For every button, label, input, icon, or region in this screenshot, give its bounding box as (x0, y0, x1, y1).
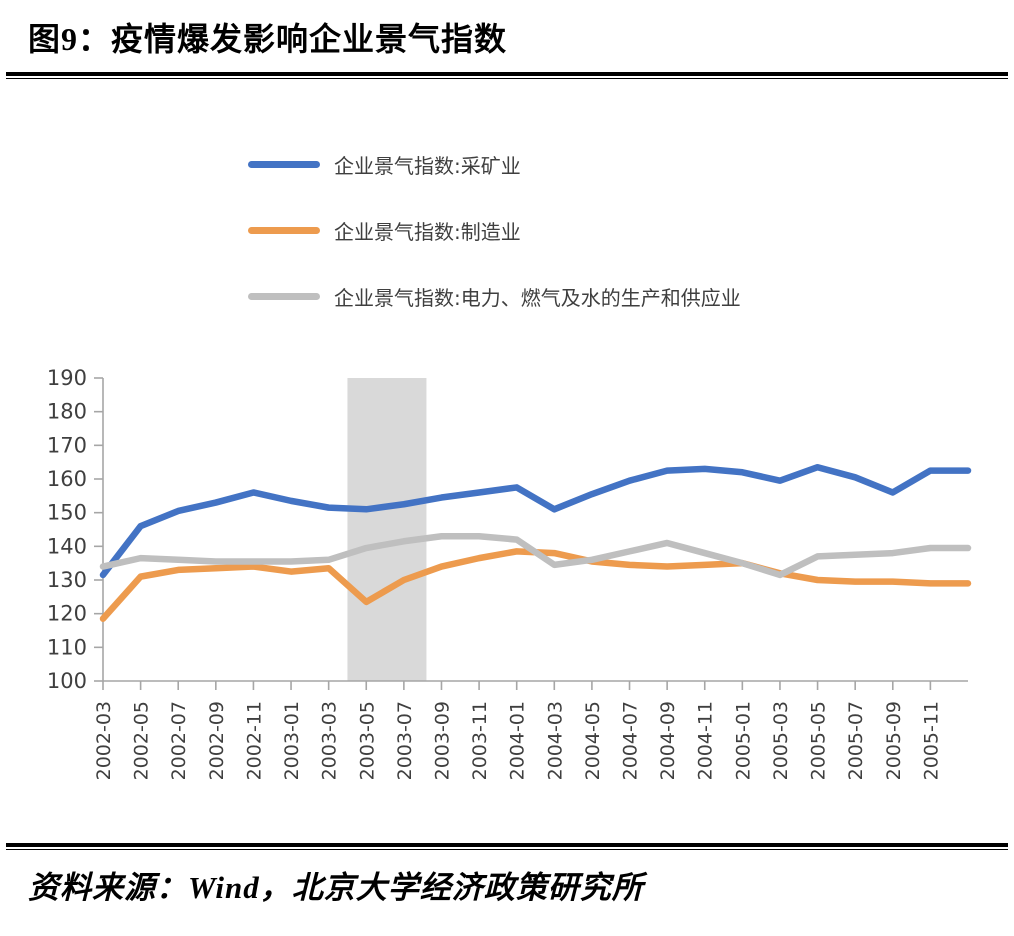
source-divider (6, 843, 1008, 850)
x-tick-label: 2005-03 (770, 701, 792, 780)
x-tick-label: 2005-05 (808, 701, 830, 780)
y-tick-label: 130 (47, 568, 87, 592)
x-tick-label: 2002-07 (168, 701, 190, 780)
legend-label-mining: 企业景气指数:采矿业 (334, 150, 521, 179)
x-tick-label: 2005-09 (883, 701, 905, 780)
x-tick-label: 2004-07 (620, 701, 642, 780)
x-tick-label: 2002-11 (243, 701, 265, 780)
legend-swatch-mining (248, 161, 320, 168)
legend-item-mining[interactable]: 企业景气指数:采矿业 (248, 150, 741, 179)
x-tick-label: 2004-11 (695, 701, 717, 780)
legend-item-manufacturing[interactable]: 企业景气指数:制造业 (248, 216, 741, 245)
y-tick-label: 160 (47, 467, 87, 491)
figure-container: 图9：疫情爆发影响企业景气指数 企业景气指数:采矿业企业景气指数:制造业企业景气… (0, 0, 1014, 936)
x-tick-label: 2004-09 (657, 701, 679, 780)
x-tick-label: 2004-03 (544, 701, 566, 780)
legend-item-utilities[interactable]: 企业景气指数:电力、燃气及水的生产和供应业 (248, 282, 741, 311)
x-tick-label: 2004-05 (582, 701, 604, 780)
y-tick-label: 100 (47, 669, 87, 693)
x-tick-label: 2005-11 (920, 701, 942, 780)
x-tick-label: 2003-05 (356, 701, 378, 780)
legend-label-utilities: 企业景气指数:电力、燃气及水的生产和供应业 (334, 282, 741, 311)
chart-legend: 企业景气指数:采矿业企业景气指数:制造业企业景气指数:电力、燃气及水的生产和供应… (248, 150, 741, 311)
x-tick-label: 2002-03 (93, 701, 115, 780)
x-tick-label: 2003-01 (281, 701, 303, 780)
legend-swatch-utilities (248, 293, 320, 300)
y-tick-label: 120 (47, 602, 87, 626)
y-tick-label: 170 (47, 433, 87, 457)
figure-title: 图9：疫情爆发影响企业景气指数 (0, 0, 1014, 66)
line-chart-svg: 1001101201301401501601701801902002-03200… (0, 355, 1014, 825)
chart-plot-area: 1001101201301401501601701801902002-03200… (0, 355, 1014, 825)
x-tick-label: 2005-07 (845, 701, 867, 780)
legend-label-manufacturing: 企业景气指数:制造业 (334, 216, 521, 245)
x-tick-label: 2003-11 (469, 701, 491, 780)
legend-swatch-manufacturing (248, 227, 320, 234)
x-tick-label: 2002-05 (131, 701, 153, 780)
x-tick-label: 2003-09 (431, 701, 453, 780)
y-tick-label: 150 (47, 501, 87, 525)
y-tick-label: 190 (47, 366, 87, 390)
x-tick-label: 2003-03 (319, 701, 341, 780)
x-tick-label: 2002-09 (206, 701, 228, 780)
x-tick-label: 2003-07 (394, 701, 416, 780)
y-tick-label: 180 (47, 400, 87, 424)
x-tick-label: 2004-01 (507, 701, 529, 780)
x-tick-label: 2005-01 (732, 701, 754, 780)
title-divider (6, 72, 1008, 79)
y-tick-label: 140 (47, 534, 87, 558)
sars-outbreak-band (347, 378, 426, 681)
y-tick-label: 110 (47, 635, 87, 659)
figure-source: 资料来源：Wind，北京大学经济政策研究所 (28, 862, 644, 907)
